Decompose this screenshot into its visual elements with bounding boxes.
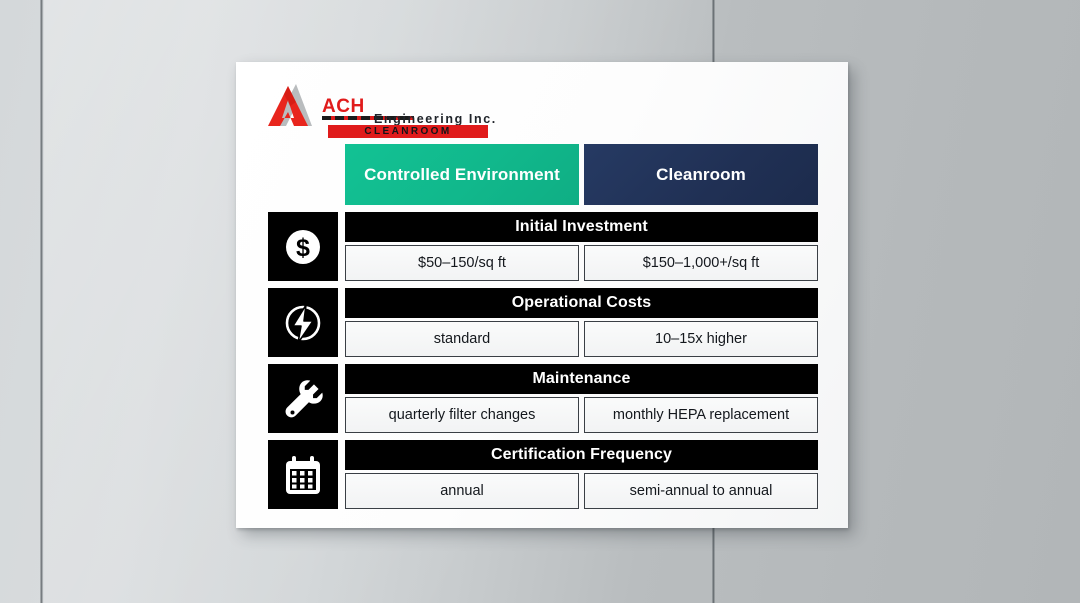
dollar-circle-icon: $ xyxy=(268,212,338,281)
lightning-bolt-circle-icon xyxy=(268,288,338,357)
table-row: Maintenance quarterly filter changes mon… xyxy=(268,364,818,433)
logo-company-text: Engineering Inc. xyxy=(374,112,497,126)
cell-cleanroom-operational-costs: 10–15x higher xyxy=(584,321,818,357)
row-values: quarterly filter changes monthly HEPA re… xyxy=(345,394,818,433)
row-label-certification-frequency: Certification Frequency xyxy=(345,440,818,470)
cell-controlled-initial-investment: $50–150/sq ft xyxy=(345,245,579,281)
row-body: Initial Investment $50–150/sq ft $150–1,… xyxy=(345,212,818,281)
column-header-cleanroom: Cleanroom xyxy=(584,144,818,205)
company-logo: ACH Engineering Inc. CLEANROOM xyxy=(266,80,365,132)
comparison-table: Controlled Environment Cleanroom $ Initi… xyxy=(268,144,818,509)
row-values: annual semi-annual to annual xyxy=(345,470,818,509)
row-values: $50–150/sq ft $150–1,000+/sq ft xyxy=(345,242,818,281)
wall-scene: ACH Engineering Inc. CLEANROOM Controlle… xyxy=(0,0,1080,603)
row-body: Operational Costs standard 10–15x higher xyxy=(345,288,818,357)
table-row: Operational Costs standard 10–15x higher xyxy=(268,288,818,357)
poster-surface: ACH Engineering Inc. CLEANROOM Controlle… xyxy=(236,62,848,528)
table-row: $ Initial Investment $50–150/sq ft $150–… xyxy=(268,212,818,281)
cell-cleanroom-certification-frequency: semi-annual to annual xyxy=(584,473,818,509)
svg-text:$: $ xyxy=(296,234,310,262)
calendar-icon xyxy=(268,440,338,509)
cell-cleanroom-initial-investment: $150–1,000+/sq ft xyxy=(584,245,818,281)
row-label-initial-investment: Initial Investment xyxy=(345,212,818,242)
row-label-operational-costs: Operational Costs xyxy=(345,288,818,318)
logo-tagline-text: CLEANROOM xyxy=(364,126,451,137)
cell-controlled-maintenance: quarterly filter changes xyxy=(345,397,579,433)
table-header-row: Controlled Environment Cleanroom xyxy=(345,144,818,205)
wall-seam-left xyxy=(40,0,43,603)
column-header-controlled-environment: Controlled Environment xyxy=(345,144,579,205)
row-values: standard 10–15x higher xyxy=(345,318,818,357)
logo-tagline-bar: CLEANROOM xyxy=(328,125,488,138)
wrench-icon xyxy=(268,364,338,433)
cell-cleanroom-maintenance: monthly HEPA replacement xyxy=(584,397,818,433)
logo-wordmark: ACH Engineering Inc. CLEANROOM xyxy=(322,96,365,117)
logo-brand-text: ACH xyxy=(322,97,365,116)
table-row: Certification Frequency annual semi-annu… xyxy=(268,440,818,509)
row-label-maintenance: Maintenance xyxy=(345,364,818,394)
ach-triangle-mark-icon xyxy=(266,82,318,130)
logo-brand-row: ACH xyxy=(322,97,365,117)
row-body: Maintenance quarterly filter changes mon… xyxy=(345,364,818,433)
comparison-poster: ACH Engineering Inc. CLEANROOM Controlle… xyxy=(236,62,848,528)
cell-controlled-operational-costs: standard xyxy=(345,321,579,357)
cell-controlled-certification-frequency: annual xyxy=(345,473,579,509)
row-body: Certification Frequency annual semi-annu… xyxy=(345,440,818,509)
